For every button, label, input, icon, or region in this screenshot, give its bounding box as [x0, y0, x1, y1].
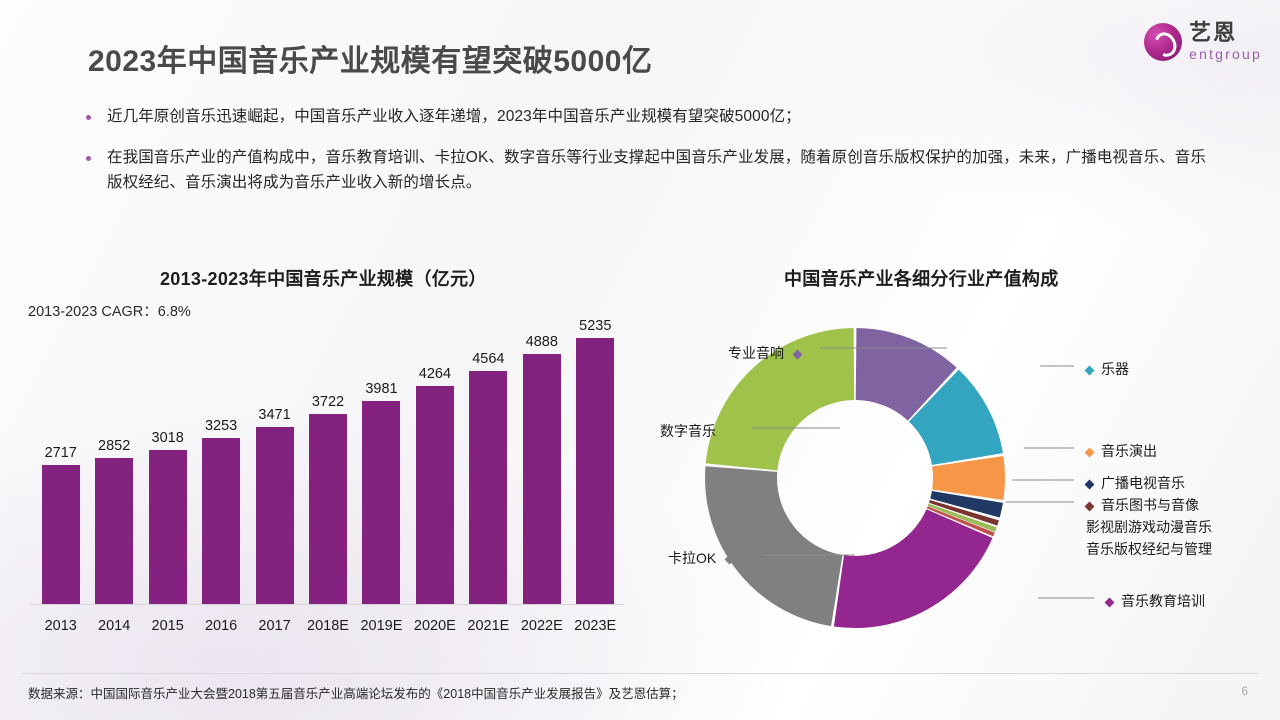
donut-label-marker-icon	[1085, 447, 1095, 457]
bar-rect	[149, 450, 187, 604]
bar-x-label: 2018E	[301, 618, 354, 634]
footer-divider	[22, 673, 1258, 674]
bar-column: 2717	[34, 318, 87, 604]
donut-label-plain: 音乐版权经纪与管理	[1086, 540, 1212, 559]
bar-value-label: 4564	[472, 351, 504, 367]
page-title: 2023年中国音乐产业规模有望突破5000亿	[88, 36, 652, 80]
donut-label-marker-icon	[1085, 479, 1095, 489]
donut-slice[interactable]	[705, 466, 843, 626]
donut-chart: 专业音响数字音乐卡拉OK乐器音乐演出广播电视音乐音乐图书与音像影视剧游戏动漫音乐…	[640, 300, 1280, 660]
donut-label-text: 卡拉OK	[668, 550, 716, 566]
bullet-list: 近几年原创音乐迅速崛起，中国音乐产业收入逐年递增，2023年中国音乐产业规模有望…	[86, 104, 1206, 211]
bar-column: 2852	[87, 318, 140, 604]
bar-rect	[202, 438, 240, 604]
donut-label-right: 音乐演出	[1086, 442, 1157, 461]
donut-label-right: 音乐教育培训	[1106, 592, 1205, 611]
bar-column: 4888	[515, 318, 568, 604]
bar-x-label: 2022E	[515, 618, 568, 634]
bar-rect	[523, 354, 561, 604]
slide: 2023年中国音乐产业规模有望突破5000亿 艺恩 entgroup 近几年原创…	[0, 0, 1280, 720]
bar-x-label: 2013	[34, 618, 87, 634]
bar-rect	[256, 427, 294, 604]
donut-label-left: 专业音响	[728, 344, 801, 363]
bar-value-label: 2717	[45, 445, 77, 461]
page-number: 6	[1241, 684, 1248, 698]
donut-label-marker-icon	[1085, 501, 1095, 511]
bar-column: 3018	[141, 318, 194, 604]
donut-label-text: 音乐图书与音像	[1101, 497, 1199, 513]
donut-label-marker-icon	[793, 349, 803, 359]
list-item: 近几年原创音乐迅速崛起，中国音乐产业收入逐年递增，2023年中国音乐产业规模有望…	[86, 104, 1206, 129]
bar-x-axis-labels: 201320142015201620172018E2019E2020E2021E…	[34, 618, 622, 634]
bar-column: 3253	[194, 318, 247, 604]
bar-axis-line	[30, 604, 624, 605]
bar-column: 4564	[462, 318, 515, 604]
bar-x-label: 2014	[87, 618, 140, 634]
bullet-text: 近几年原创音乐迅速崛起，中国音乐产业收入逐年递增，2023年中国音乐产业规模有望…	[107, 104, 801, 129]
donut-label-right: 音乐图书与音像	[1086, 496, 1199, 515]
bar-rect	[416, 386, 454, 604]
bar-x-label: 2019E	[355, 618, 408, 634]
bar-column: 3471	[248, 318, 301, 604]
donut-label-marker-icon	[725, 427, 735, 437]
donut-chart-title: 中国音乐产业各细分行业产值构成	[784, 265, 1059, 291]
donut-label-left: 卡拉OK	[668, 549, 733, 568]
bar-x-label: 2021E	[462, 618, 515, 634]
list-item: 在我国音乐产业的产值构成中，音乐教育培训、卡拉OK、数字音乐等行业支撑起中国音乐…	[86, 145, 1206, 195]
donut-label-plain: 影视剧游戏动漫音乐	[1086, 518, 1212, 537]
donut-label-text: 音乐教育培训	[1121, 593, 1205, 609]
logo-label-en: entgroup	[1189, 47, 1262, 61]
brand-logo: 艺恩 entgroup	[1144, 22, 1262, 61]
donut-slice[interactable]	[834, 509, 993, 628]
bar-column: 4264	[408, 318, 461, 604]
bar-value-label: 3471	[258, 407, 290, 423]
bar-rect	[309, 414, 347, 604]
donut-label-marker-icon	[1105, 597, 1115, 607]
donut-label-text: 广播电视音乐	[1101, 475, 1185, 491]
bar-column: 3981	[355, 318, 408, 604]
source-note: 数据来源：中国国际音乐产业大会暨2018第五届音乐产业高端论坛发布的《2018中…	[28, 683, 684, 702]
donut-label-text: 专业音响	[728, 345, 784, 361]
bar-value-label: 3253	[205, 418, 237, 434]
bar-chart-title: 2013-2023年中国音乐产业规模（亿元）	[160, 265, 487, 291]
donut-label-left: 数字音乐	[660, 422, 733, 441]
bullet-dot-icon	[86, 156, 91, 161]
bar-x-label: 2017	[248, 618, 301, 634]
logo-text: 艺恩 entgroup	[1189, 22, 1262, 61]
bar-rect	[42, 465, 80, 604]
donut-label-text: 影视剧游戏动漫音乐	[1086, 519, 1212, 535]
donut-label-marker-icon	[725, 554, 735, 564]
bar-rect	[469, 371, 507, 604]
bar-series: 2717285230183253347137223981426445644888…	[34, 318, 622, 604]
donut-label-text: 音乐版权经纪与管理	[1086, 541, 1212, 557]
bar-value-label: 3722	[312, 394, 344, 410]
donut-label-text: 数字音乐	[660, 423, 716, 439]
logo-label-cn: 艺恩	[1189, 22, 1262, 44]
donut-label-text: 乐器	[1101, 361, 1129, 377]
bar-x-label: 2015	[141, 618, 194, 634]
bar-chart: 2013-2023 CAGR：6.8% 27172852301832533471…	[26, 300, 626, 640]
bar-value-label: 2852	[98, 438, 130, 454]
bar-value-label: 4264	[419, 366, 451, 382]
donut-label-right: 乐器	[1086, 360, 1129, 379]
bar-x-label: 2020E	[408, 618, 461, 634]
bar-rect	[362, 401, 400, 604]
bar-value-label: 3018	[152, 430, 184, 446]
bar-rect	[95, 458, 133, 604]
bar-value-label: 3981	[365, 381, 397, 397]
bullet-dot-icon	[86, 115, 91, 120]
donut-label-text: 音乐演出	[1101, 443, 1157, 459]
bar-value-label: 4888	[526, 334, 558, 350]
entgroup-logo-icon	[1144, 23, 1182, 61]
bar-value-label: 5235	[579, 318, 611, 334]
bar-column: 5235	[569, 318, 622, 604]
bar-rect	[576, 338, 614, 604]
bullet-text: 在我国音乐产业的产值构成中，音乐教育培训、卡拉OK、数字音乐等行业支撑起中国音乐…	[107, 145, 1206, 195]
donut-label-marker-icon	[1085, 365, 1095, 375]
bar-column: 3722	[301, 318, 354, 604]
bar-x-label: 2023E	[569, 618, 622, 634]
bar-x-label: 2016	[194, 618, 247, 634]
donut-label-right: 广播电视音乐	[1086, 474, 1185, 493]
